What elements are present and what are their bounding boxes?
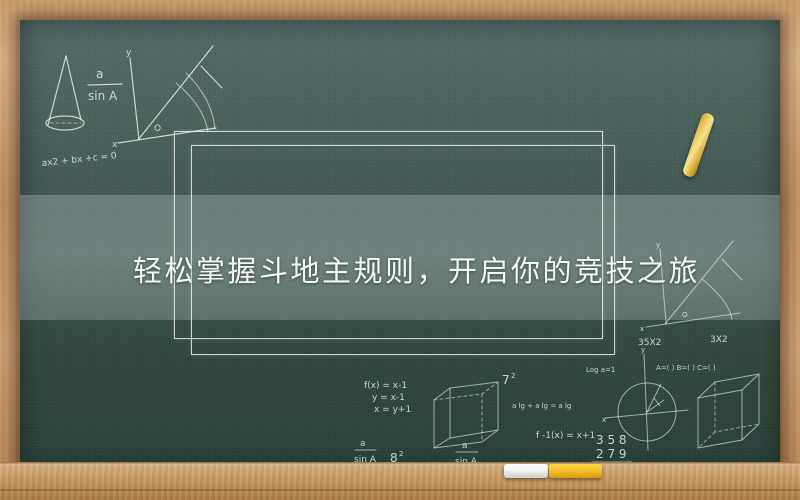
tray-lip [0, 462, 800, 465]
chalk-fx-line3: x = y+1 [374, 405, 411, 415]
chalk-fraction-numerator: a [96, 67, 103, 81]
chalk-axis-x-label: x [112, 140, 118, 150]
chalkboard-surface: a sin A y x O ax2 + bx +c = 0 y [20, 20, 780, 472]
banner-title: 轻松掌握斗地主规则，开启你的竞技之旅 [133, 248, 700, 290]
chalk-matrix-label-1: 35X2 [638, 338, 661, 348]
white-chalk-piece[interactable] [504, 464, 548, 478]
chalk-circle-axis-y: y [641, 346, 645, 354]
chalk-tray [0, 462, 800, 500]
chalk-fraction-denominator: sin A [88, 89, 118, 103]
chalk-power-7: 7 [502, 373, 510, 387]
yellow-chalk-piece[interactable] [549, 464, 602, 478]
chalk-angle-label: O [154, 124, 161, 134]
tray-wood-grain [0, 462, 800, 500]
chalk-log-sum: a lg + a lg = a lg [512, 402, 571, 410]
tray-edge-line [0, 489, 800, 491]
chalk-fraction-left-num: a [360, 439, 366, 449]
chalk-matrix-expression: A=( ) B=( ) C=( ) [656, 364, 716, 372]
chalk-fx-line2: y = x-1 [372, 393, 405, 403]
yellow-chalk-stick-diagonal[interactable] [682, 112, 716, 179]
chalkboard-banner: a sin A y x O ax2 + bx +c = 0 y [0, 0, 800, 500]
chalk-circle-axis-x: x [602, 416, 606, 424]
chalk-subtraction-subtrahend: 2 7 9 [596, 447, 627, 461]
chalk-fx-line1: f(x) = x-1 [364, 381, 407, 391]
chalk-axis-x-label-right: x [640, 325, 644, 333]
chalk-quadratic-equation: ax2 + bx +c = 0 [41, 151, 117, 169]
chalk-log-note-1: Log a=1 [586, 366, 615, 374]
chalk-power-7-exponent: 2 [511, 372, 515, 380]
chalk-axis-y-label: y [126, 48, 132, 58]
chalk-fraction-mid-num: a [462, 441, 468, 451]
chalk-subtraction-minuend: 3 5 8 [596, 433, 627, 447]
chalk-matrix-label-2: 3X2 [710, 335, 728, 345]
chalk-angle-label-right: O [682, 311, 688, 319]
chalk-power-8-exponent: 2 [399, 450, 403, 458]
chalk-inverse-function: f -1(x) = x+1 [536, 431, 595, 441]
doodle-bottom-center-math: f(x) = x-1 y = x-1 x = y+1 7 2 a lg + a … [350, 360, 610, 472]
